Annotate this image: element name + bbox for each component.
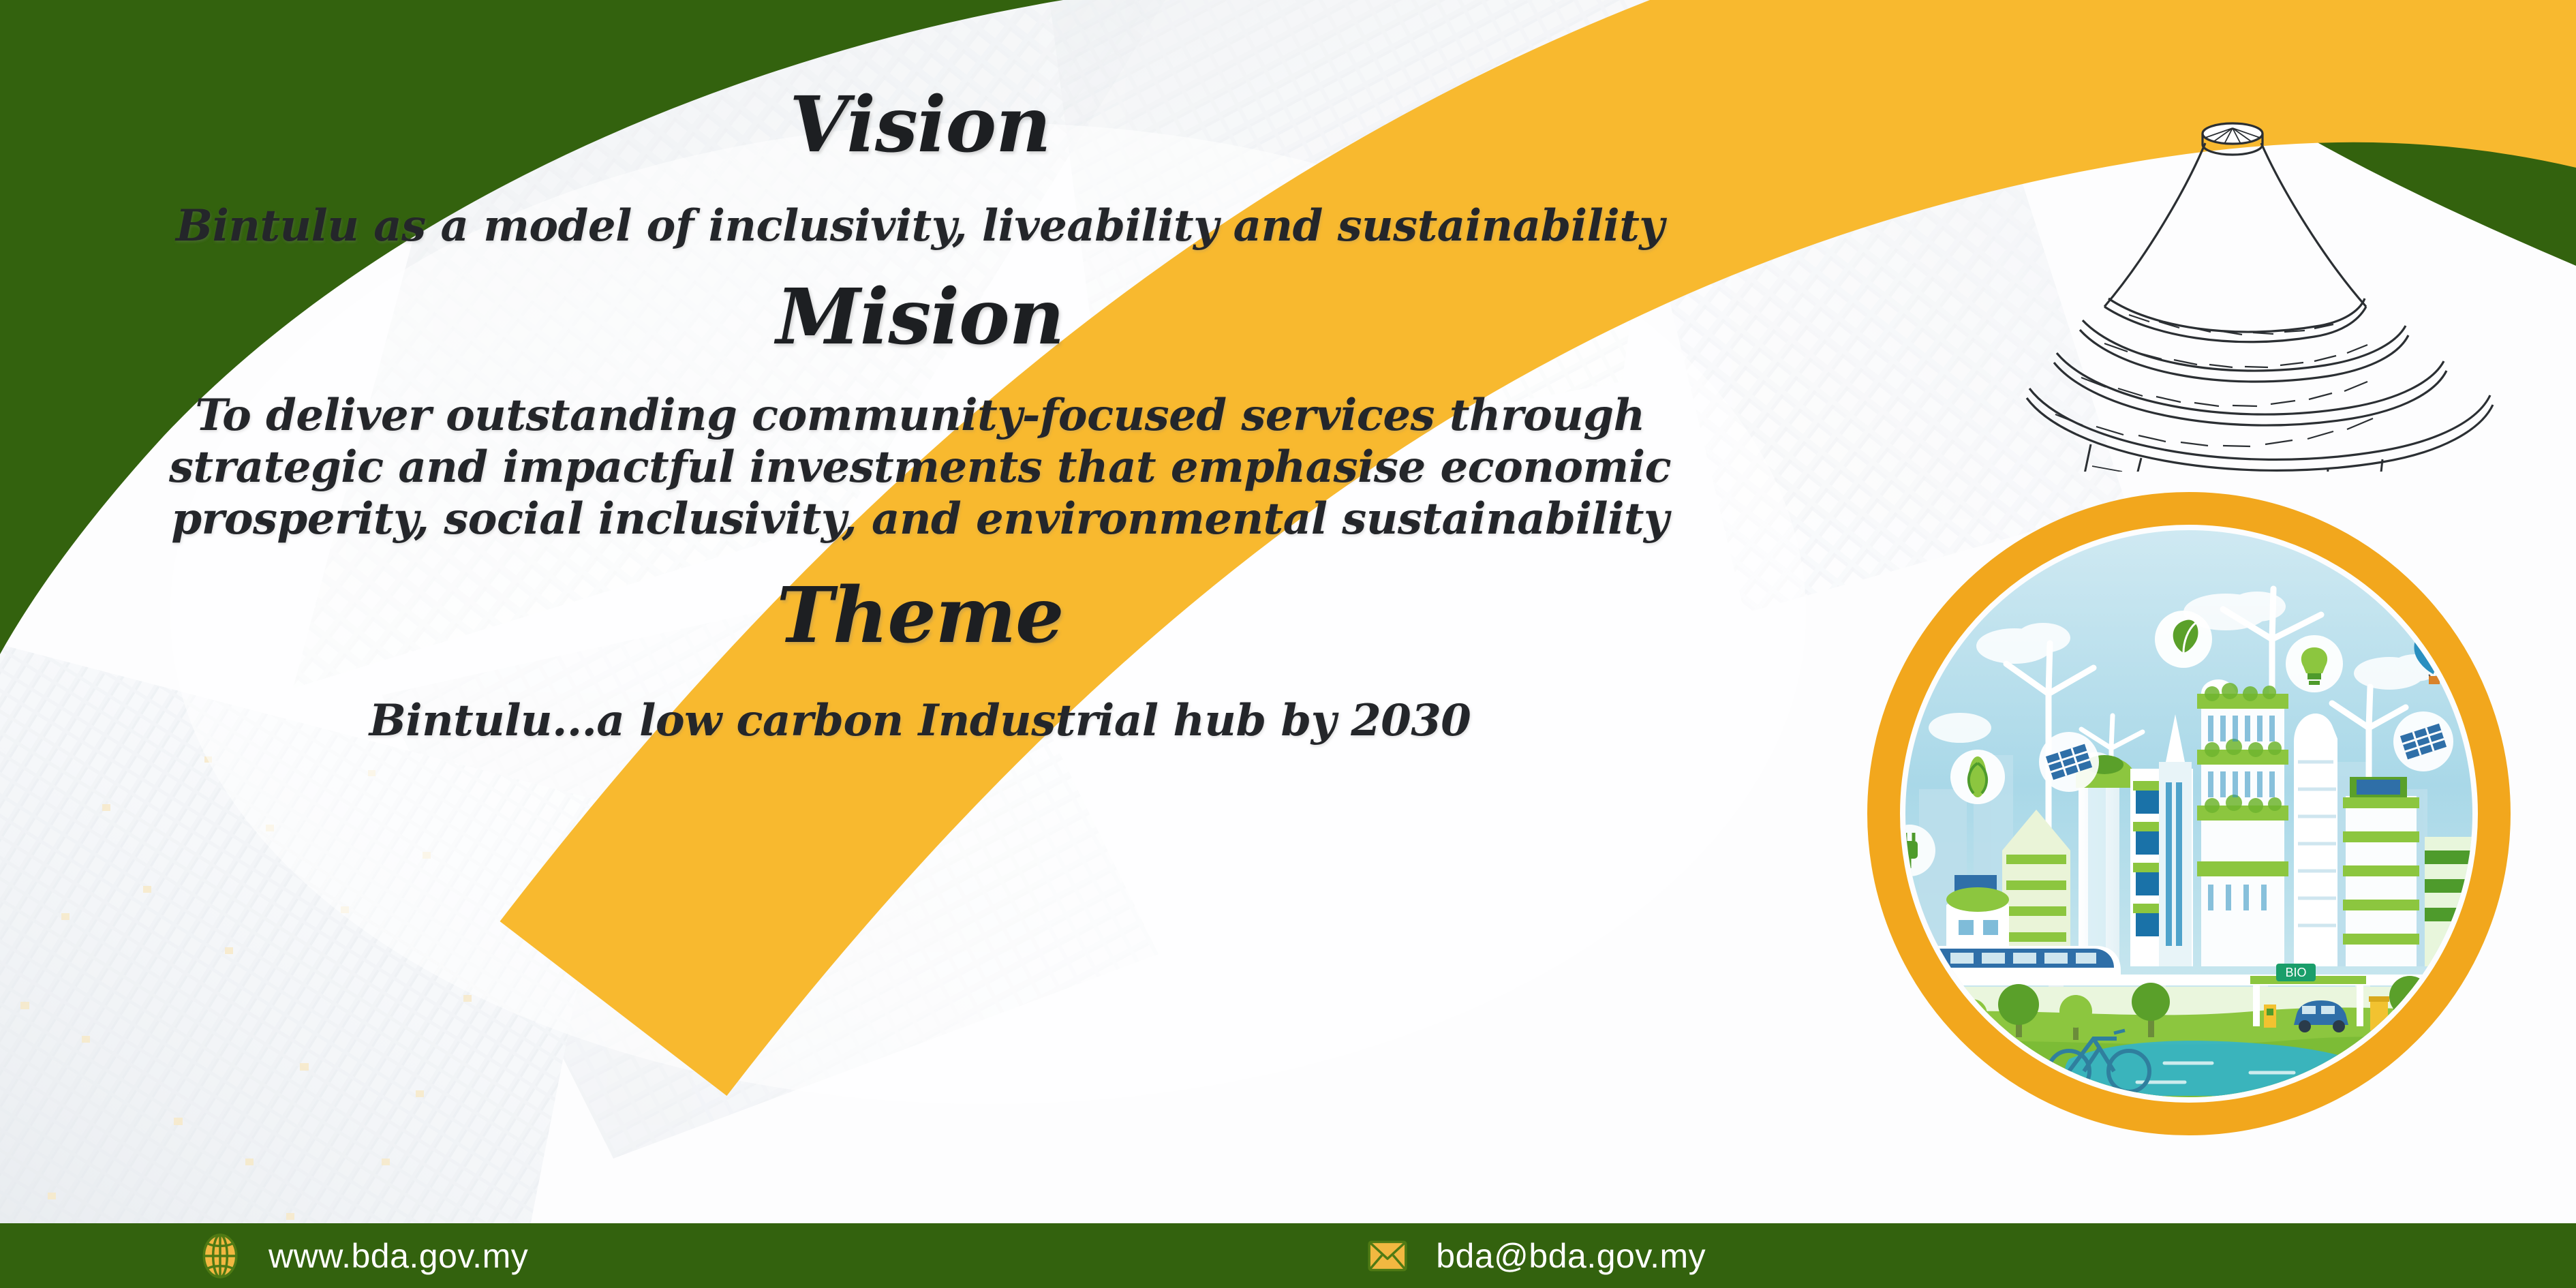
mission-heading: Mision xyxy=(0,273,1840,362)
landmark-building-icon xyxy=(1946,90,2546,472)
mission-statement-line-2: strategic and impactful investments that… xyxy=(0,442,1840,493)
globe-icon xyxy=(198,1233,243,1278)
eco-city-medallion: BIO xyxy=(1844,469,2534,1159)
vision-heading: Vision xyxy=(0,80,1840,170)
contact-footer: www.bda.gov.my bda@bda.gov.my xyxy=(0,1223,2576,1288)
vision-statement: Bintulu as a model of inclusivity, livea… xyxy=(0,200,1840,251)
envelope-icon xyxy=(1365,1233,1410,1278)
email-text: bda@bda.gov.my xyxy=(1436,1236,1706,1276)
email-contact[interactable]: bda@bda.gov.my xyxy=(1365,1233,1706,1278)
svg-text:BIO: BIO xyxy=(2285,966,2306,979)
website-contact[interactable]: www.bda.gov.my xyxy=(198,1233,528,1278)
website-text: www.bda.gov.my xyxy=(269,1236,528,1276)
theme-statement: Bintulu...a low carbon Industrial hub by… xyxy=(0,695,1840,746)
theme-heading: Theme xyxy=(0,571,1840,660)
bda-vision-mission-banner: BIO xyxy=(0,0,2576,1288)
mission-statement-line-1: To deliver outstanding community-focused… xyxy=(0,390,1840,441)
mission-statement-line-3: prosperity, social inclusivity, and envi… xyxy=(0,493,1840,545)
